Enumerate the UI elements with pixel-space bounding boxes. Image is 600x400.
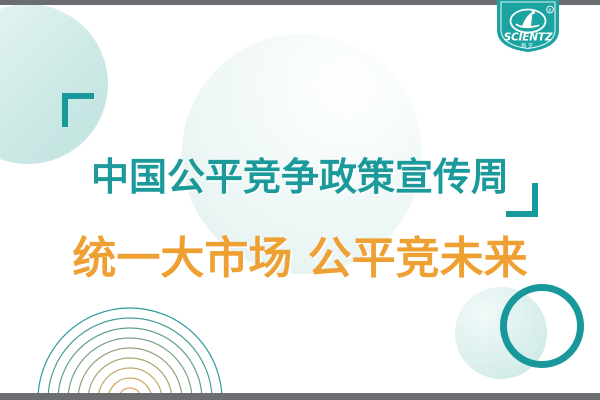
logo-subtext: 新芝 (521, 42, 535, 50)
bottom-rule (0, 393, 600, 400)
bracket-top-left-vertical (62, 93, 68, 127)
bracket-top-left (62, 93, 94, 127)
logo-wordmark: SCIENTZ (504, 32, 553, 44)
headline-secondary: 统一大市场 公平竞未来 (0, 222, 600, 286)
circle-top-left-decoration (0, 4, 108, 164)
circle-bottom-right-ring-decoration (500, 284, 584, 368)
concentric-arcs-decoration (0, 290, 260, 400)
scientz-logo[interactable]: R SCIENTZ 新芝 (497, 0, 559, 52)
circle-bottom-right-fill-decoration (455, 287, 547, 379)
headline-primary: 中国公平竞争政策宣传周 (0, 146, 600, 201)
promo-banner: 中国公平竞争政策宣传周 统一大市场 公平竞未来 R SCIENTZ 新芝 (0, 0, 600, 400)
